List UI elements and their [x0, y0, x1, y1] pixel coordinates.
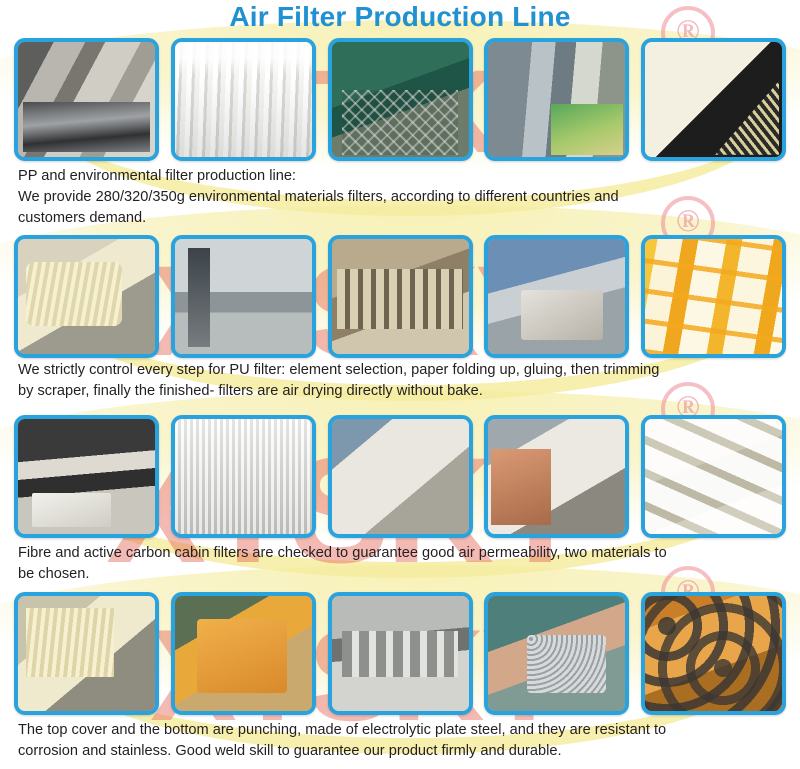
photo-2-2-image — [175, 239, 312, 354]
photo-4-5-image — [645, 596, 782, 711]
photo-4-4[interactable] — [484, 592, 629, 715]
photo-1-3-image — [332, 42, 469, 157]
photo-2-3[interactable] — [328, 235, 473, 358]
photo-4-5[interactable] — [641, 592, 786, 715]
photo-3-2-image — [175, 419, 312, 534]
photo-4-2-image — [175, 596, 312, 711]
photo-2-3-image — [332, 239, 469, 354]
photo-row-4 — [14, 592, 786, 715]
photo-3-1-image — [18, 419, 155, 534]
photo-2-4[interactable] — [484, 235, 629, 358]
photo-row-3 — [14, 415, 786, 538]
photo-3-5-image — [645, 419, 782, 534]
photo-3-3[interactable] — [328, 415, 473, 538]
document-page: Air Filter Production Line PP and enviro… — [0, 0, 800, 769]
caption-2-line-2: by scraper, finally the finished- filter… — [18, 381, 784, 402]
photo-1-5[interactable] — [641, 38, 786, 161]
photo-2-5[interactable] — [641, 235, 786, 358]
caption-3: Fibre and active carbon cabin filters ar… — [18, 543, 784, 585]
caption-1-line-3: customers demand. — [18, 208, 784, 229]
photo-1-5-image — [645, 42, 782, 157]
photo-2-5-image — [645, 239, 782, 354]
caption-2: We strictly control every step for PU fi… — [18, 360, 784, 402]
caption-4-line-1: The top cover and the bottom are punchin… — [18, 720, 784, 741]
photo-2-2[interactable] — [171, 235, 316, 358]
photo-4-1[interactable] — [14, 592, 159, 715]
photo-1-1-image — [18, 42, 155, 157]
photo-1-3[interactable] — [328, 38, 473, 161]
caption-1-line-2: We provide 280/320/350g environmental ma… — [18, 187, 784, 208]
caption-3-line-2: be chosen. — [18, 564, 784, 585]
photo-4-2[interactable] — [171, 592, 316, 715]
photo-3-2[interactable] — [171, 415, 316, 538]
photo-1-1[interactable] — [14, 38, 159, 161]
page-title: Air Filter Production Line — [0, 0, 800, 34]
caption-1: PP and environmental filter production l… — [18, 166, 784, 229]
photo-3-4[interactable] — [484, 415, 629, 538]
photo-1-2[interactable] — [171, 38, 316, 161]
photo-2-4-image — [488, 239, 625, 354]
photo-1-4-image — [488, 42, 625, 157]
photo-row-1 — [14, 38, 786, 161]
photo-1-4[interactable] — [484, 38, 629, 161]
caption-1-line-1: PP and environmental filter production l… — [18, 166, 784, 187]
photo-4-4-image — [488, 596, 625, 711]
photo-4-3-image — [332, 596, 469, 711]
photo-1-2-image — [175, 42, 312, 157]
photo-2-1-image — [18, 239, 155, 354]
photo-4-3[interactable] — [328, 592, 473, 715]
photo-3-1[interactable] — [14, 415, 159, 538]
photo-2-1[interactable] — [14, 235, 159, 358]
caption-4-line-2: corrosion and stainless. Good weld skill… — [18, 741, 784, 762]
caption-4: The top cover and the bottom are punchin… — [18, 720, 784, 762]
photo-3-5[interactable] — [641, 415, 786, 538]
photo-row-2 — [14, 235, 786, 358]
photo-4-1-image — [18, 596, 155, 711]
caption-2-line-1: We strictly control every step for PU fi… — [18, 360, 784, 381]
caption-3-line-1: Fibre and active carbon cabin filters ar… — [18, 543, 784, 564]
photo-3-4-image — [488, 419, 625, 534]
photo-3-3-image — [332, 419, 469, 534]
